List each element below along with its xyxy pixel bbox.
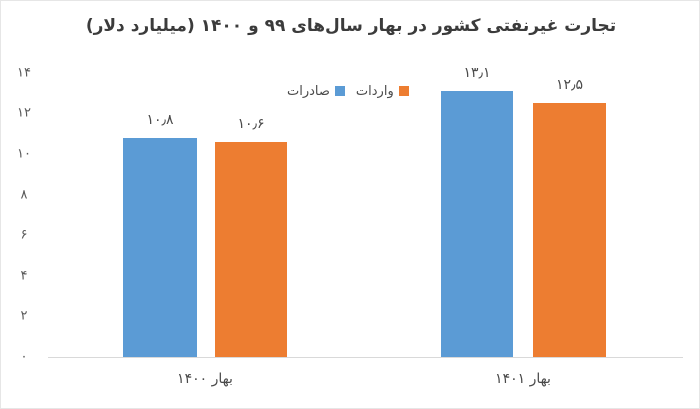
y-axis-tick-2: ۲	[7, 309, 41, 324]
bar-exports-0[interactable]	[123, 138, 197, 357]
bar-value-exports-1: ۱۳٫۱	[463, 65, 490, 81]
category-label-0: بهار ۱۴۰۰	[177, 371, 233, 387]
y-axis-tick-10: ۱۰	[7, 147, 41, 162]
chart-title: تجارت غیرنفتی کشور در بهار سال‌های ۹۹ و …	[1, 13, 700, 39]
x-axis-baseline	[48, 357, 683, 358]
bar-value-imports-0: ۱۰٫۶	[237, 116, 264, 132]
y-axis-tick-0: ۰	[7, 350, 41, 365]
y-axis-tick-8: ۸	[7, 187, 41, 202]
bar-imports-0[interactable]	[215, 142, 287, 357]
y-axis-tick-14: ۱۴	[7, 65, 41, 80]
bar-value-exports-0: ۱۰٫۸	[146, 112, 173, 128]
y-axis-tick-4: ۴	[7, 268, 41, 283]
plot-area	[48, 57, 683, 357]
y-axis-tick-12: ۱۲	[7, 106, 41, 121]
bar-imports-1[interactable]	[533, 103, 606, 357]
bar-exports-1[interactable]	[441, 91, 513, 357]
chart-container: تجارت غیرنفتی کشور در بهار سال‌های ۹۹ و …	[0, 0, 700, 409]
category-label-1: بهار ۱۴۰۱	[495, 371, 551, 387]
bar-value-imports-1: ۱۲٫۵	[556, 77, 583, 93]
y-axis-tick-6: ۶	[7, 228, 41, 243]
